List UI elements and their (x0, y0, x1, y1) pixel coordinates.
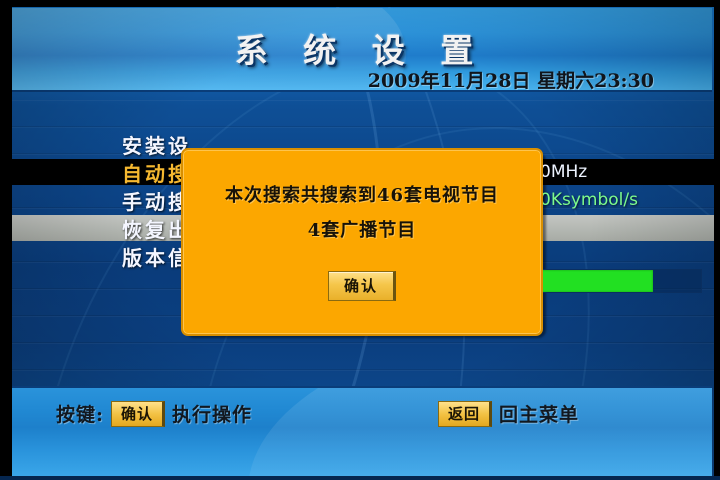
screen-right-border (714, 0, 720, 480)
datetime-display: 2009年11月28日 星期六23:30 (368, 66, 654, 92)
search-result-dialog: 本次搜索共搜索到46套电视节目 4套广播节目 确认 (181, 148, 543, 336)
footer-prefix-label: 按键: (56, 400, 104, 427)
dialog-confirm-button[interactable]: 确认 (328, 271, 396, 301)
footer-back-hint: 返回 回主菜单 (438, 400, 579, 427)
footer-back-key-badge[interactable]: 返回 (438, 401, 492, 427)
screen-bottom-border (0, 476, 720, 480)
screen-top-border (0, 0, 720, 7)
header-banner: 系 统 设 置 2009年11月28日 星期六23:30 (8, 8, 712, 92)
search-progress-bar (540, 269, 702, 293)
tv-settings-screen: 系 统 设 置 2009年11月28日 星期六23:30 安装设 自动搜 0MH… (0, 0, 720, 480)
footer-ok-action-label: 执行操作 (172, 400, 252, 427)
screen-left-border (0, 0, 12, 480)
dialog-button-row: 确认 (183, 271, 541, 301)
search-progress-fill (541, 270, 653, 292)
footer-help-bar: 按键: 确认 执行操作 返回 回主菜单 (8, 386, 712, 476)
footer-back-action-label: 回主菜单 (499, 400, 579, 427)
dialog-message-line-1: 本次搜索共搜索到46套电视节目 (183, 181, 541, 207)
menu-item-value-symbolrate: 0Ksymbol/s (540, 190, 638, 210)
footer-ok-key-badge[interactable]: 确认 (111, 401, 165, 427)
page-title: 系 统 设 置 (8, 24, 712, 72)
menu-item-value-frequency: 0MHz (540, 162, 587, 182)
footer-ok-hint: 按键: 确认 执行操作 (56, 400, 252, 427)
dialog-message-line-2: 4套广播节目 (183, 216, 541, 242)
